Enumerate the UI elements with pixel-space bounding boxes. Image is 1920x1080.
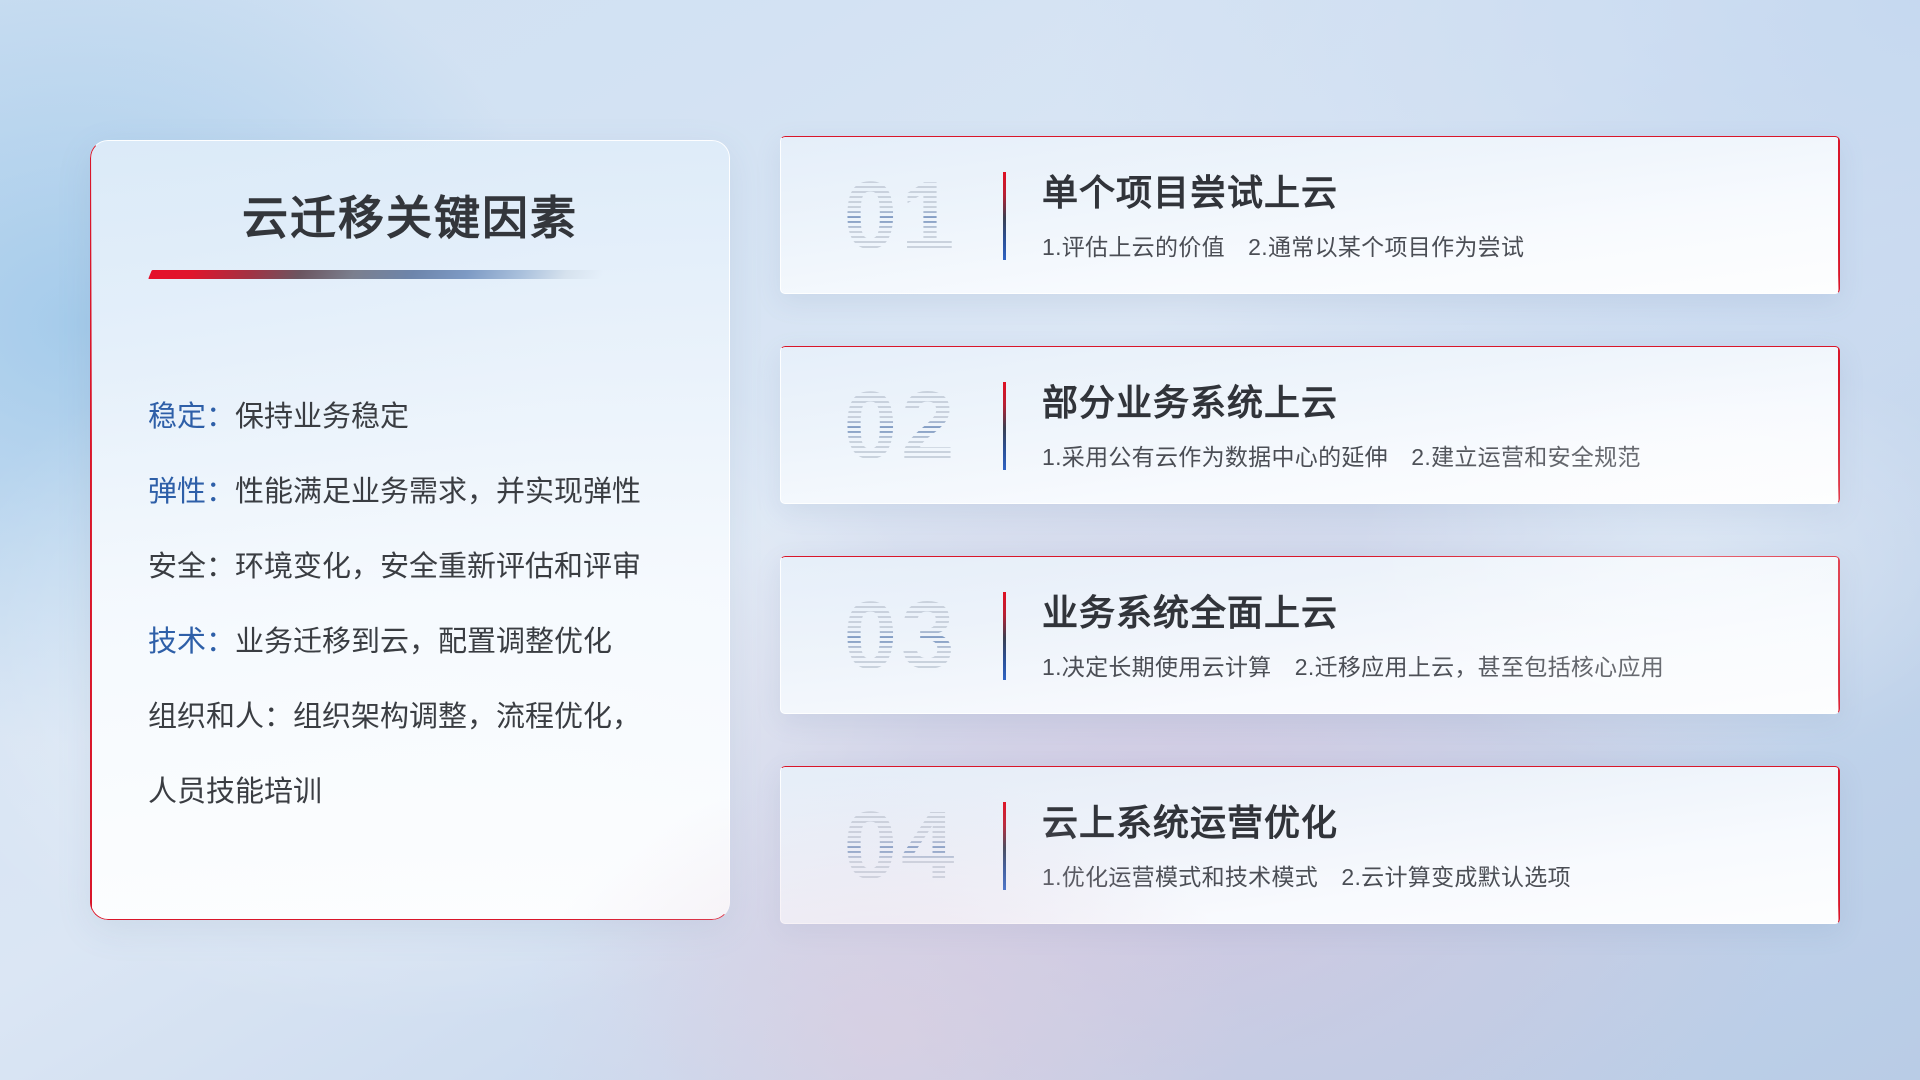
key-factor-label: 稳定：: [148, 401, 235, 433]
step-description: 1.采用公有云作为数据中心的延伸 2.建立运营和安全规范: [1042, 438, 1641, 472]
card-red-edge-top: [780, 766, 1840, 767]
card-red-edge-right: [1838, 136, 1840, 294]
migration-step-card[interactable]: 0202部分业务系统上云1.采用公有云作为数据中心的延伸 2.建立运营和安全规范: [780, 346, 1840, 504]
step-accent-bar: [1003, 802, 1006, 890]
step-number: 01: [806, 146, 996, 286]
card-red-edge-gradient: [90, 140, 92, 920]
key-factor-text: 保持业务稳定: [235, 401, 409, 433]
card-red-edge-right: [1838, 556, 1840, 714]
key-factor-item: 弹性：性能满足业务需求，并实现弹性: [148, 455, 690, 530]
key-factor-text: 业务迁移到云，配置调整优化: [235, 626, 612, 658]
key-factor-label: 组织和人：: [148, 701, 293, 733]
key-factor-text: 人员技能培训: [148, 776, 322, 808]
step-title: 业务系统全面上云: [1042, 584, 1338, 636]
step-number: 03: [806, 566, 996, 706]
key-factor-item: 组织和人：组织架构调整，流程优化，: [148, 680, 690, 755]
key-factor-item: 稳定：保持业务稳定: [148, 380, 690, 455]
step-number: 02: [806, 356, 996, 496]
step-description: 1.优化运营模式和技术模式 2.云计算变成默认选项: [1042, 858, 1571, 892]
migration-step-card[interactable]: 0303业务系统全面上云1.决定长期使用云计算 2.迁移应用上云，甚至包括核心应…: [780, 556, 1840, 714]
step-accent-bar: [1003, 592, 1006, 680]
card-red-edge-top: [780, 136, 1840, 137]
migration-steps-list: 0101单个项目尝试上云1.评估上云的价值 2.通常以某个项目作为尝试0202部…: [780, 136, 1840, 976]
card-red-edge-top: [780, 556, 1840, 557]
step-accent-bar: [1003, 382, 1006, 470]
step-description: 1.决定长期使用云计算 2.迁移应用上云，甚至包括核心应用: [1042, 648, 1664, 682]
key-factor-label: 弹性：: [148, 476, 235, 508]
slide-canvas: 云迁移关键因素 稳定：保持业务稳定弹性：性能满足业务需求，并实现弹性安全：环境变…: [0, 0, 1920, 1080]
key-factors-card: 云迁移关键因素 稳定：保持业务稳定弹性：性能满足业务需求，并实现弹性安全：环境变…: [90, 140, 730, 920]
key-factor-text: 组织架构调整，流程优化，: [293, 701, 641, 733]
migration-step-card[interactable]: 0101单个项目尝试上云1.评估上云的价值 2.通常以某个项目作为尝试: [780, 136, 1840, 294]
page-title: 云迁移关键因素: [90, 182, 730, 248]
key-factor-label: 技术：: [148, 626, 235, 658]
key-factor-item: 技术：业务迁移到云，配置调整优化: [148, 605, 690, 680]
title-underline-gradient: [148, 270, 604, 279]
step-title: 单个项目尝试上云: [1042, 164, 1338, 216]
card-red-edge-right: [1838, 346, 1840, 504]
card-red-edge-top: [780, 346, 1840, 347]
step-number: 04: [806, 776, 996, 916]
key-factor-label: 安全：: [148, 551, 235, 583]
step-title: 云上系统运营优化: [1042, 794, 1338, 846]
step-title: 部分业务系统上云: [1042, 374, 1338, 426]
key-factor-text: 环境变化，安全重新评估和评审: [235, 551, 641, 583]
migration-step-card[interactable]: 0404云上系统运营优化1.优化运营模式和技术模式 2.云计算变成默认选项: [780, 766, 1840, 924]
step-description: 1.评估上云的价值 2.通常以某个项目作为尝试: [1042, 228, 1524, 262]
key-factor-item: 人员技能培训: [148, 755, 690, 830]
key-factor-text: 性能满足业务需求，并实现弹性: [235, 476, 641, 508]
key-factors-list: 稳定：保持业务稳定弹性：性能满足业务需求，并实现弹性安全：环境变化，安全重新评估…: [148, 380, 690, 830]
step-accent-bar: [1003, 172, 1006, 260]
card-red-edge-right: [1838, 766, 1840, 924]
key-factor-item: 安全：环境变化，安全重新评估和评审: [148, 530, 690, 605]
